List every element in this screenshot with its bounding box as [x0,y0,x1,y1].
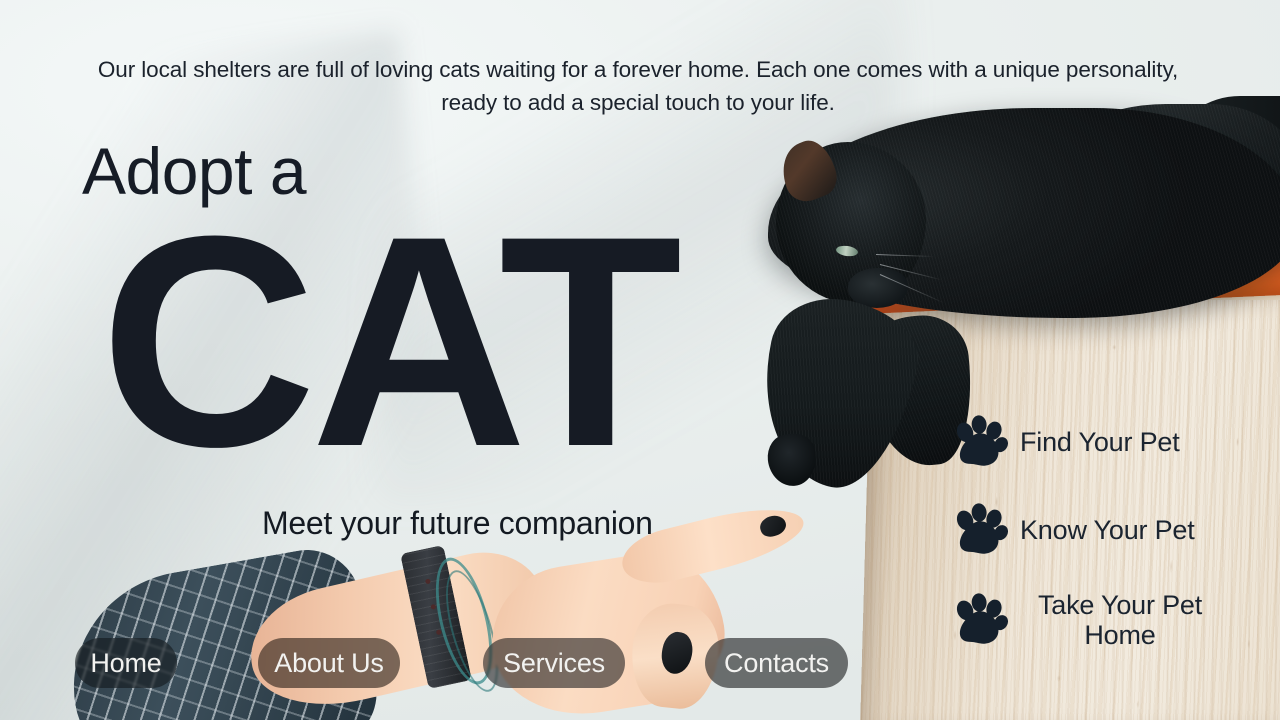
nav-item-home[interactable]: Home [75,638,177,688]
tagline: Meet your future companion [262,507,653,539]
feature-list: Find Your Pet Know Your Pet Take Your Pe… [952,414,1252,650]
nav-item-contacts[interactable]: Contacts [705,638,848,688]
adopt-a-cat-poster: Our local shelters are full of loving ca… [0,0,1280,720]
paw-print-icon [952,502,1008,558]
nav-item-about-us[interactable]: About Us [258,638,400,688]
feature-item-find-your-pet[interactable]: Find Your Pet [952,414,1252,470]
feature-label: Know Your Pet [1020,515,1195,545]
paw-print-icon [952,414,1008,470]
feature-label: Find Your Pet [1020,427,1180,457]
main-navigation: Home About Us Services Contacts [0,638,1280,720]
feature-item-know-your-pet[interactable]: Know Your Pet [952,502,1252,558]
nav-item-services[interactable]: Services [483,638,625,688]
